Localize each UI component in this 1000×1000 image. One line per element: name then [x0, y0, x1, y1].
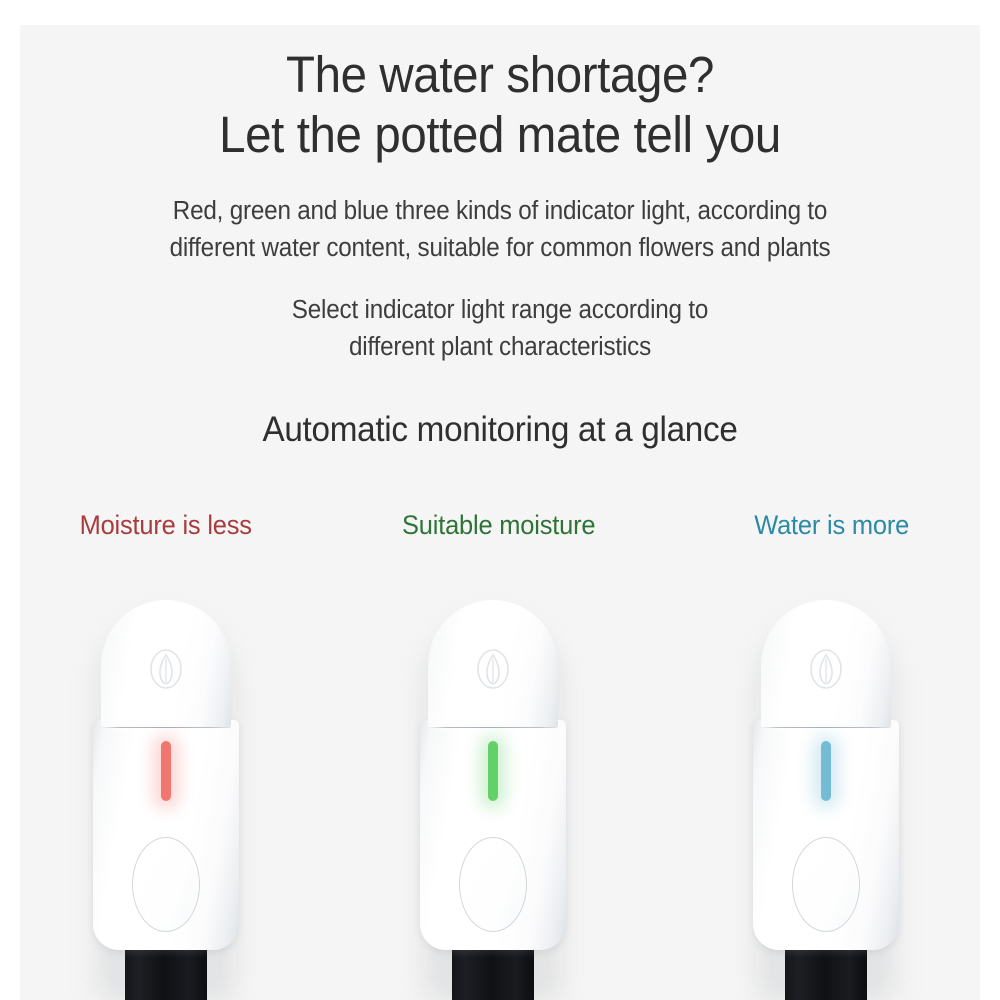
- device-cell-water-more: [660, 600, 980, 1000]
- description-paragraph-1: Red, green and blue three kinds of indic…: [20, 193, 980, 266]
- description-paragraph-2-line-2: different plant characteristics: [44, 329, 956, 366]
- leaf-drop-logo-icon: [805, 647, 847, 691]
- device-power-button[interactable]: [132, 837, 200, 932]
- led-indicator-green: [488, 741, 498, 801]
- status-label-cell-moisture-less: Moisture is less: [20, 508, 340, 542]
- product-page: The water shortage? Let the potted mate …: [0, 0, 1000, 1000]
- status-label-suitable-moisture: Suitable moisture: [402, 508, 595, 542]
- device-power-button[interactable]: [459, 837, 527, 932]
- device-cell-moisture-less: [20, 600, 340, 1000]
- soil-moisture-sensor-red: [91, 600, 241, 1000]
- headline-line-2: Let the potted mate tell you: [54, 105, 947, 165]
- leaf-drop-logo-icon: [472, 647, 514, 691]
- status-label-cell-suitable-moisture: Suitable moisture: [340, 508, 660, 542]
- status-label-moisture-less: Moisture is less: [80, 508, 252, 542]
- headline-line-1: The water shortage?: [54, 45, 947, 105]
- soil-moisture-sensor-blue: [751, 600, 901, 1000]
- page-title: The water shortage? Let the potted mate …: [20, 45, 980, 165]
- device-cell-suitable-moisture: [340, 600, 660, 1000]
- content-panel: The water shortage? Let the potted mate …: [20, 25, 980, 1000]
- description-paragraph-2: Select indicator light range according t…: [20, 292, 980, 365]
- device-power-button[interactable]: [792, 837, 860, 932]
- status-label-row: Moisture is less Suitable moisture Water…: [20, 508, 980, 542]
- status-label-cell-water-more: Water is more: [660, 508, 980, 542]
- soil-moisture-sensor-green: [418, 600, 568, 1000]
- device-row: [20, 600, 980, 1000]
- led-indicator-red: [161, 741, 171, 801]
- status-label-water-more: Water is more: [755, 508, 910, 542]
- tagline: Automatic monitoring at a glance: [44, 408, 956, 452]
- description-paragraph-1-line-2: different water content, suitable for co…: [44, 230, 956, 267]
- description-paragraph-2-line-1: Select indicator light range according t…: [44, 292, 956, 329]
- leaf-drop-logo-icon: [145, 647, 187, 691]
- device-seam-highlight: [100, 728, 232, 730]
- led-indicator-blue: [821, 741, 831, 801]
- device-seam-highlight: [427, 728, 559, 730]
- description-paragraph-1-line-1: Red, green and blue three kinds of indic…: [44, 193, 956, 230]
- hero-text-block: The water shortage? Let the potted mate …: [20, 25, 980, 452]
- device-seam-highlight: [760, 728, 892, 730]
